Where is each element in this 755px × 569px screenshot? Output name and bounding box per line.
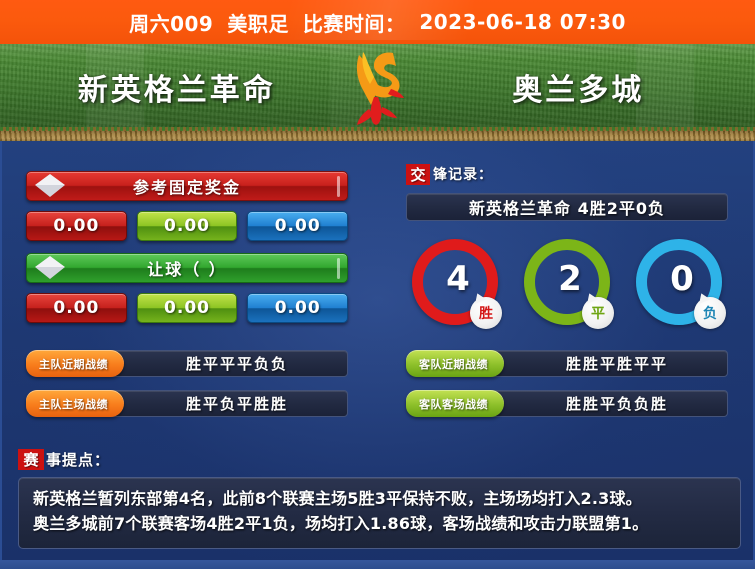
handicap-section: 让球（ ） 0.00 0.00 0.00 [26,253,348,323]
diamond-icon [35,254,65,282]
away-away-record-label: 客队客场战绩 [406,390,504,417]
handicap-title: 让球（ ） [26,253,348,283]
home-home-record-label: 主队主场战绩 [26,390,124,417]
banner-dirt-strip [0,130,755,141]
h2h-header: 交 锋记录： [406,163,728,185]
footer-strip [0,560,755,569]
handicap-odds-home[interactable]: 0.00 [26,293,127,323]
win-count: 4 [446,262,470,296]
home-home-record-value: 胜平负平胜胜 [98,390,348,417]
league-name: 美职足 [227,8,289,37]
h2h-column: 交 锋记录： 新英格兰革命 4胜2平0负 4 胜 2 平 [406,163,728,417]
analysis-badge-icon: 赛 [18,449,44,470]
home-team-name: 新英格兰革命 [24,65,330,109]
h2h-lose-ring: 0 负 [636,239,722,325]
match-time-label: 比赛时间： [303,8,406,37]
home-recent-record-value: 胜平平平负负 [98,350,348,377]
handicap-odds-away[interactable]: 0.00 [247,293,348,323]
diamond-icon [35,172,65,200]
analysis-section: 赛 事提点： 新英格兰暂列东部第4名，此前8个联赛主场5胜3平保持不败，主场场均… [18,448,741,549]
analysis-line-1: 新英格兰暂列东部第4名，此前8个联赛主场5胜3平保持不败，主场场均打入2.3球。 [33,487,726,512]
lose-badge: 负 [694,297,726,329]
fixed-odds-draw[interactable]: 0.00 [137,211,238,241]
h2h-rings: 4 胜 2 平 0 负 [406,239,728,325]
away-team-name: 奥兰多城 [426,65,732,109]
spacer [406,325,728,337]
fixed-odds-row: 0.00 0.00 0.00 [26,211,348,241]
handicap-odds-draw[interactable]: 0.00 [137,293,238,323]
spacer [26,323,348,337]
team-row: 新英格兰革命 奥兰多城 [0,44,755,130]
handicap-odds-row: 0.00 0.00 0.00 [26,293,348,323]
home-home-record-row: 胜平负平胜胜 主队主场战绩 [26,390,348,417]
draw-count: 2 [558,262,582,296]
away-away-record-row: 胜胜平负负胜 客队客场战绩 [406,390,728,417]
team-banner: 新英格兰革命 奥兰多城 [0,44,755,130]
bar-highlight [337,258,340,279]
analysis-header: 赛 事提点： [18,448,741,470]
fixed-odds-home[interactable]: 0.00 [26,211,127,241]
match-header-text: 周六009 美职足 比赛时间： 2023-06-18 07:30 [0,0,755,44]
win-badge: 胜 [470,297,502,329]
content-panel: 参考固定奖金 0.00 0.00 0.00 让球（ ） 0.00 0.00 0.… [0,141,755,560]
fixed-odds-away[interactable]: 0.00 [247,211,348,241]
bar-highlight [337,176,340,197]
analysis-title: 事提点： [46,449,110,470]
fixed-odds-title-label: 参考固定奖金 [133,174,241,198]
away-recent-record-value: 胜胜平胜平平 [478,350,728,377]
fixed-odds-title: 参考固定奖金 [26,171,348,201]
vs-icon [330,47,426,127]
home-recent-record-label: 主队近期战绩 [26,350,124,377]
odds-column: 参考固定奖金 0.00 0.00 0.00 让球（ ） 0.00 0.00 0.… [26,171,348,417]
h2h-title: 锋记录： [433,164,493,184]
draw-badge: 平 [582,297,614,329]
match-datetime: 2023-06-18 07:30 [419,10,626,34]
h2h-badge-icon: 交 [406,164,430,185]
match-preview-page: 周六009 美职足 比赛时间： 2023-06-18 07:30 新英格兰革命 [0,0,755,569]
analysis-box: 新英格兰暂列东部第4名，此前8个联赛主场5胜3平保持不败，主场场均打入2.3球。… [18,477,741,549]
home-recent-record-row: 胜平平平负负 主队近期战绩 [26,350,348,377]
away-recent-record-row: 胜胜平胜平平 客队近期战绩 [406,350,728,377]
analysis-line-2: 奥兰多城前7个联赛客场4胜2平1负，场均打入1.86球，客场战绩和攻击力联盟第1… [33,512,726,537]
away-recent-record-label: 客队近期战绩 [406,350,504,377]
match-header: 周六009 美职足 比赛时间： 2023-06-18 07:30 [0,0,755,44]
away-away-record-value: 胜胜平负负胜 [478,390,728,417]
h2h-draw-ring: 2 平 [524,239,610,325]
match-number: 周六009 [129,8,213,37]
h2h-win-ring: 4 胜 [412,239,498,325]
lose-count: 0 [670,262,694,296]
handicap-title-label: 让球（ ） [147,256,227,280]
h2h-summary: 新英格兰革命 4胜2平0负 [406,193,728,221]
